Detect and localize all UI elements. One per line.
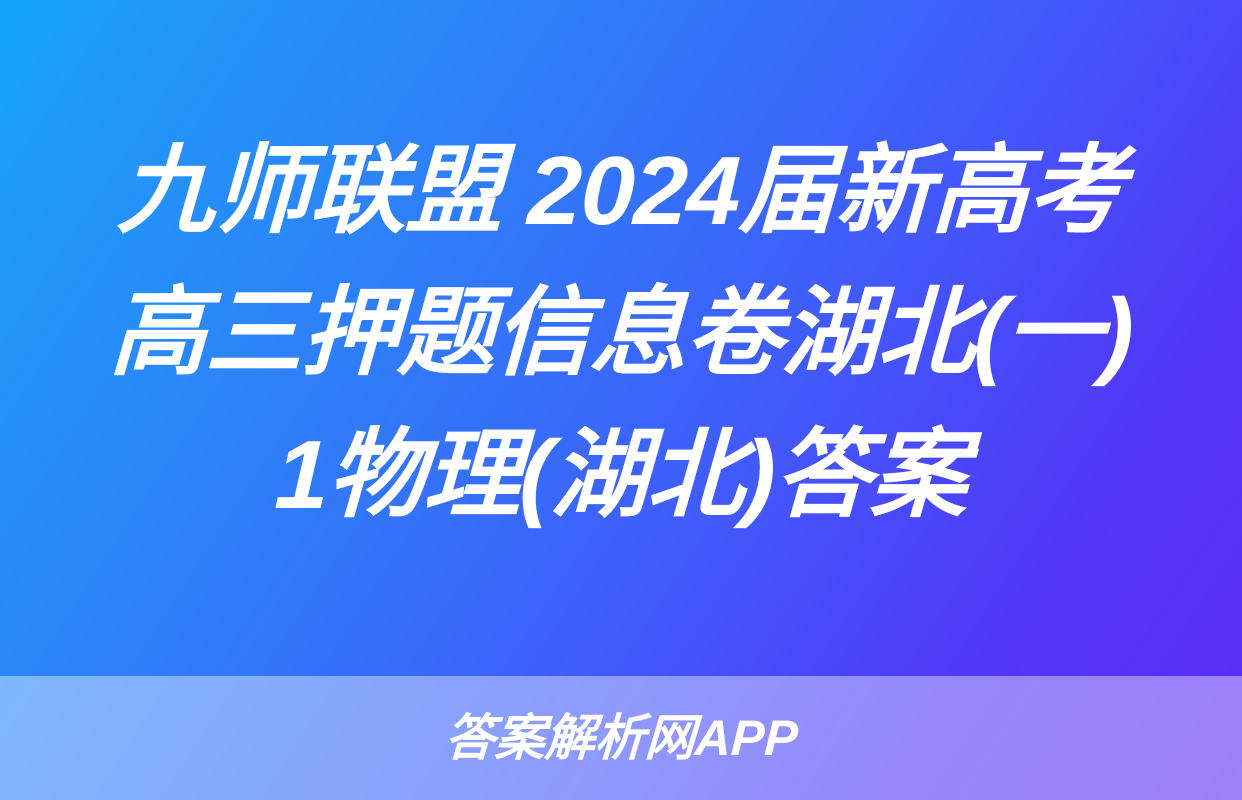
- promo-share-card: 九师联盟 2024届新高考 高三押题信息卷湖北(一) 1物理(湖北)答案 答案解…: [0, 0, 1242, 800]
- title-line-3: 1物理(湖北)答案: [273, 404, 970, 546]
- title-block: 九师联盟 2024届新高考 高三押题信息卷湖北(一) 1物理(湖北)答案: [0, 0, 1242, 676]
- watermark-text: 答案解析网APP: [443, 712, 799, 764]
- title-line-2: 高三押题信息卷湖北(一): [107, 262, 1135, 404]
- footer-watermark-band: 答案解析网APP: [0, 676, 1242, 800]
- title-line-1: 九师联盟 2024届新高考: [116, 120, 1127, 262]
